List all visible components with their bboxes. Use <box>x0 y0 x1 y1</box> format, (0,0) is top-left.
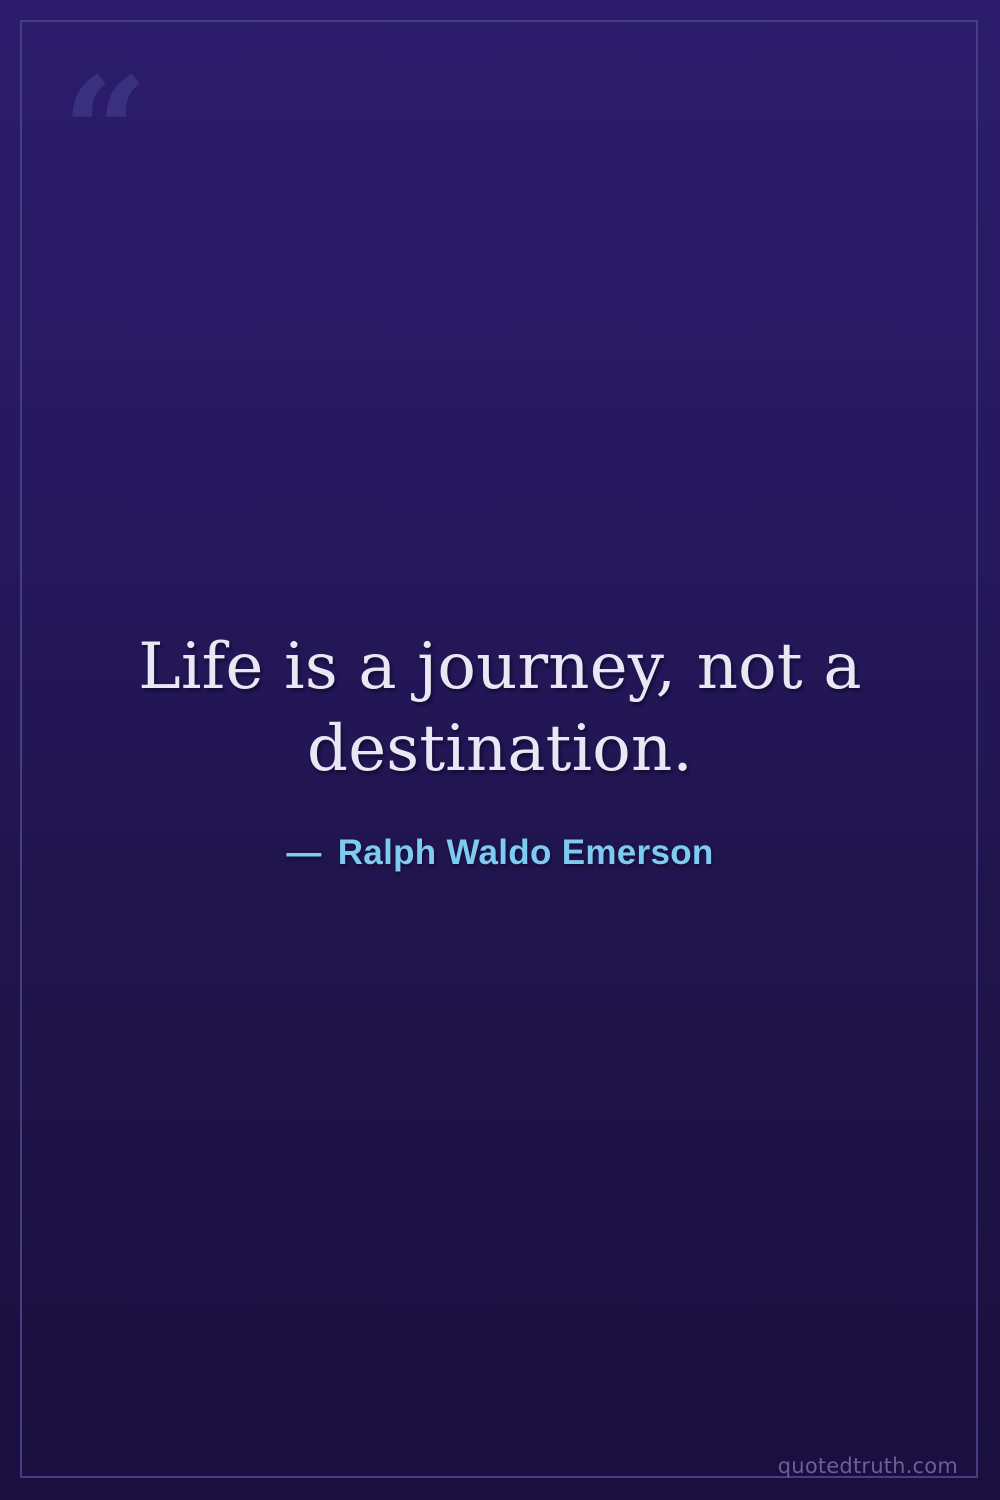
author-name: Ralph Waldo Emerson <box>338 833 714 873</box>
quote-text: Life is a journey, not a destination. <box>110 627 890 791</box>
quote-attribution: — Ralph Waldo Emerson <box>110 833 890 873</box>
site-watermark: quotedtruth.com <box>778 1454 958 1478</box>
quote-card: “ Life is a journey, not a destination. … <box>0 0 1000 1500</box>
em-dash-icon: — <box>286 833 321 873</box>
quote-content-stack: Life is a journey, not a destination. — … <box>0 0 1000 1500</box>
